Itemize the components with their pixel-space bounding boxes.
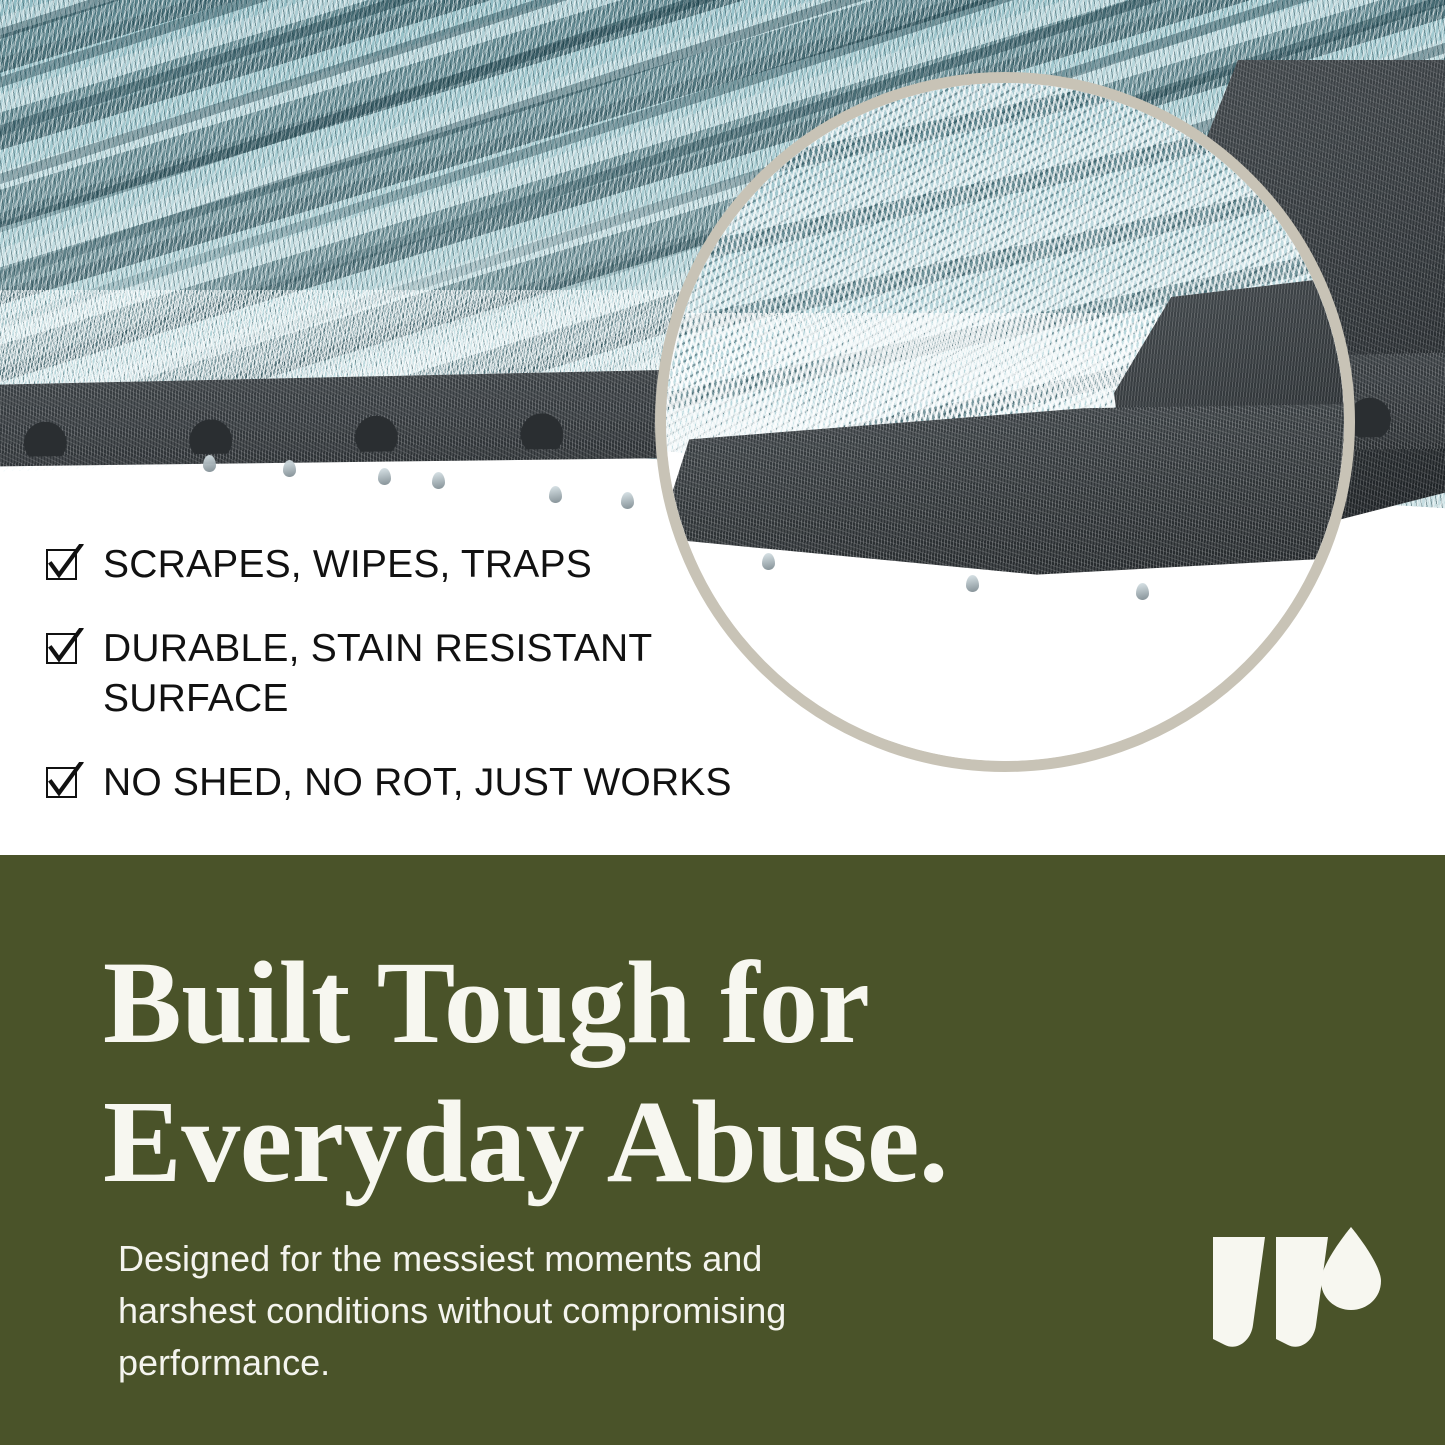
water-droplet-icon	[621, 492, 634, 509]
water-droplet-icon	[966, 575, 979, 592]
water-droplet-icon	[203, 455, 216, 472]
feature-item: SCRAPES, WIPES, TRAPS	[44, 540, 774, 590]
checkbox-checked-icon	[44, 628, 84, 668]
w-droplet-logo	[1207, 1225, 1385, 1385]
water-droplet-icon	[432, 472, 445, 489]
feature-item: DURABLE, STAIN RESISTANT SURFACE	[44, 624, 774, 724]
promo-headline: Built Tough for Everyday Abuse.	[103, 933, 1153, 1211]
feature-item-label: DURABLE, STAIN RESISTANT SURFACE	[103, 624, 652, 724]
product-feature-ad: SCRAPES, WIPES, TRAPS DURABLE, STAIN RES…	[0, 0, 1445, 1445]
promo-subcopy: Designed for the messiest moments and ha…	[118, 1233, 948, 1389]
feature-item-label: SCRAPES, WIPES, TRAPS	[103, 540, 592, 590]
water-droplet-icon	[1321, 1227, 1381, 1310]
checkbox-checked-icon	[44, 762, 84, 802]
water-droplet-icon	[549, 486, 562, 503]
water-droplet-icon	[378, 468, 391, 485]
feature-checklist: SCRAPES, WIPES, TRAPS DURABLE, STAIN RES…	[44, 540, 774, 808]
feature-item-label: NO SHED, NO ROT, JUST WORKS	[103, 758, 732, 808]
water-droplet-icon	[1136, 583, 1149, 600]
product-photo-area: SCRAPES, WIPES, TRAPS DURABLE, STAIN RES…	[0, 0, 1445, 855]
water-droplet-icon	[283, 460, 296, 477]
feature-item: NO SHED, NO ROT, JUST WORKS	[44, 758, 774, 808]
checkbox-checked-icon	[44, 544, 84, 584]
